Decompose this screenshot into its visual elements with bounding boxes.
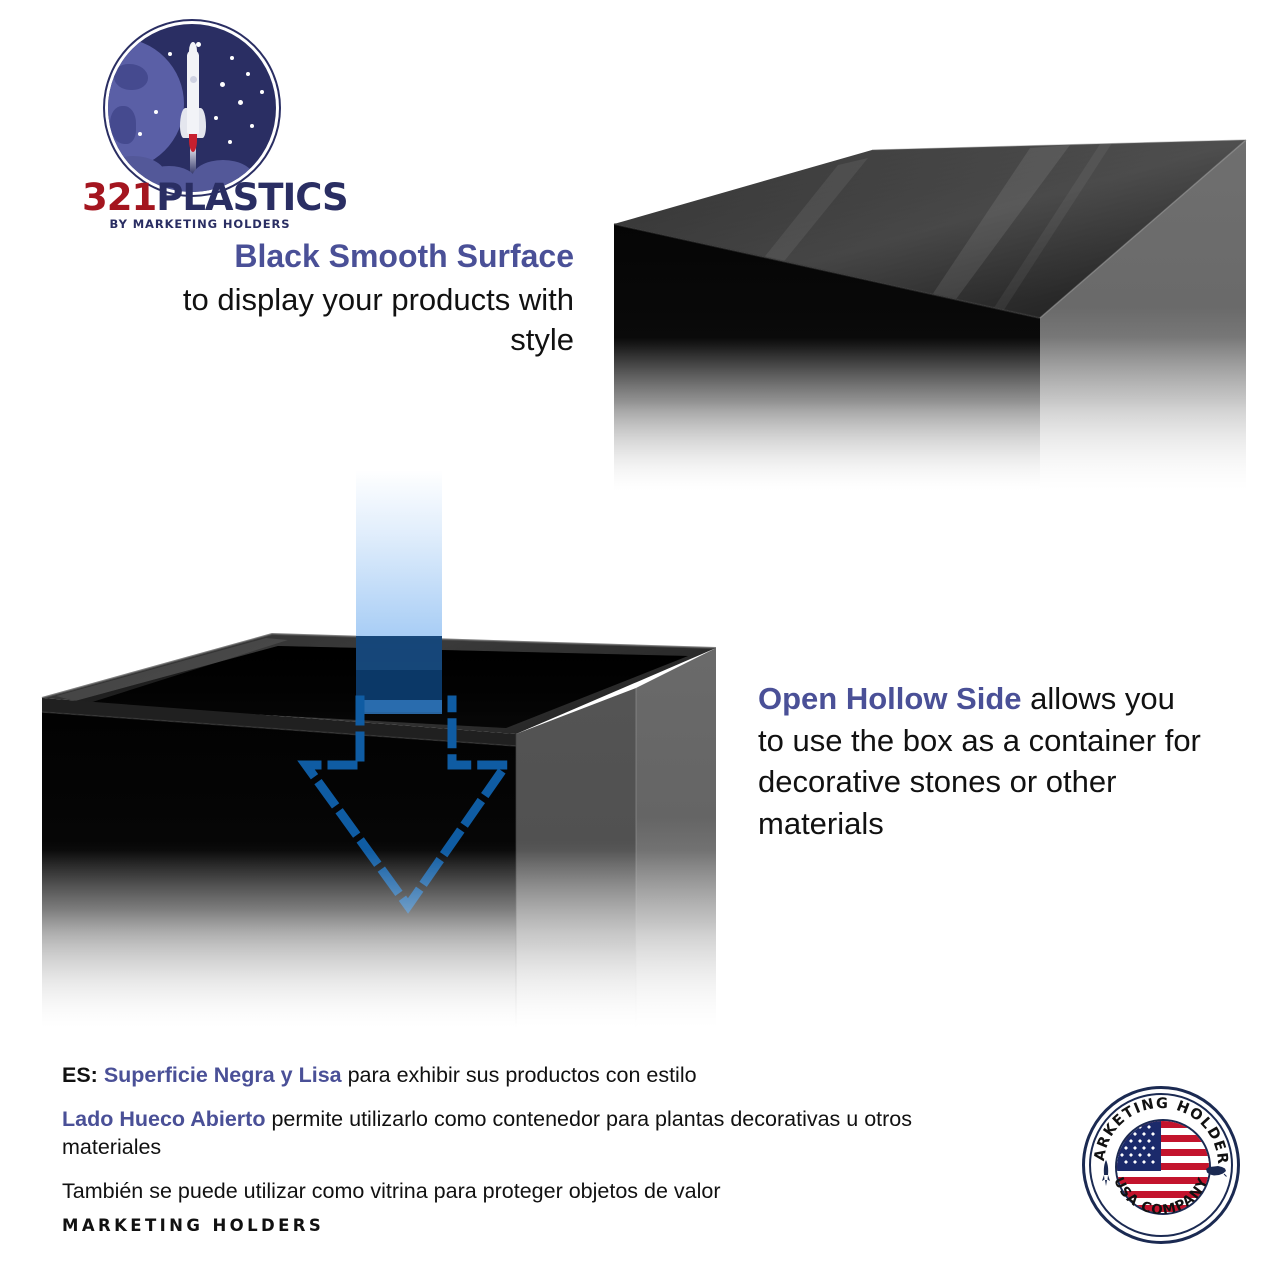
spanish-line-2-highlight: Lado Hueco Abierto <box>62 1107 265 1131</box>
spanish-line-1-highlight: Superficie Negra y Lisa <box>104 1063 342 1087</box>
marketing-holders-footer: MARKETING HOLDERS <box>62 1216 324 1235</box>
seal-top-text: MARKETING HOLDERS <box>1082 1086 1230 1166</box>
star-icon <box>238 100 243 105</box>
spanish-language-label: ES: <box>62 1063 98 1087</box>
seal-bottom-text: USA COMPANY <box>1110 1175 1212 1219</box>
star-icon <box>154 110 158 114</box>
star-icon <box>260 90 264 94</box>
callout-open-hollow-side: Open Hollow Side allows you to use the b… <box>758 678 1208 844</box>
spanish-line-2: Lado Hueco Abierto permite utilizarlo co… <box>62 1106 962 1162</box>
callout-black-smooth-surface: Black Smooth Surfaceto display your prod… <box>130 236 574 360</box>
usa-map-icon <box>1205 1164 1227 1178</box>
svg-text:MARKETING HOLDERS: MARKETING HOLDERS <box>1082 1086 1230 1166</box>
star-icon <box>214 116 218 120</box>
spanish-line-1: ES: Superficie Negra y Lisa para exhibir… <box>62 1062 962 1090</box>
spanish-description-block: ES: Superficie Negra y Lisa para exhibir… <box>62 1062 962 1206</box>
spanish-line-1-body: para exhibir sus productos con estilo <box>342 1063 697 1087</box>
closed-black-acrylic-box <box>600 132 1250 512</box>
downward-insertion-arrow-icon <box>280 690 550 930</box>
logo-number: 321 <box>82 176 156 219</box>
spanish-line-3: También se puede utilizar como vitrina p… <box>62 1178 962 1206</box>
callout-right-highlight: Open Hollow Side <box>758 681 1022 716</box>
rocket-earth-badge-icon <box>108 24 276 192</box>
brand-logo: 321PLASTICS BY MARKETING HOLDERS <box>70 24 320 214</box>
logo-wordmark: 321PLASTICS BY MARKETING HOLDERS <box>82 179 318 231</box>
star-icon <box>230 56 234 60</box>
callout-top-body: to display your products with style <box>183 282 574 357</box>
seal-rocket-icon <box>1101 1160 1111 1186</box>
svg-text:USA COMPANY: USA COMPANY <box>1110 1175 1212 1219</box>
star-icon <box>246 72 250 76</box>
star-icon <box>168 52 172 56</box>
star-icon <box>250 124 254 128</box>
callout-top-highlight: Black Smooth Surface <box>130 236 574 278</box>
star-icon <box>138 132 142 136</box>
star-icon <box>220 82 225 87</box>
infographic-canvas: 321PLASTICS BY MARKETING HOLDERS <box>0 0 1280 1280</box>
usa-company-seal: MARKETING HOLDERS USA COMPANY <box>1082 1086 1240 1244</box>
logo-tagline: BY MARKETING HOLDERS <box>82 219 318 231</box>
star-icon <box>196 42 201 47</box>
logo-word: PLASTICS <box>156 176 347 219</box>
closed-box-render <box>600 132 1250 512</box>
star-icon <box>254 38 258 42</box>
